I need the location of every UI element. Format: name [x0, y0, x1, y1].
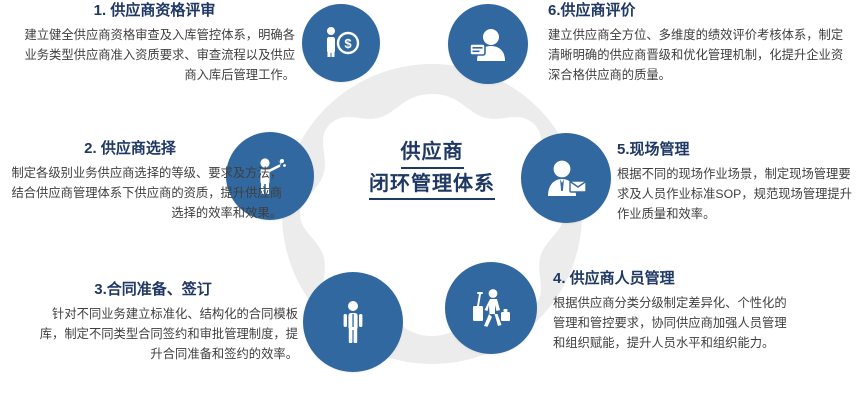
node-text-3: 3.合同准备、签订 针对不同业务建立标准化、结构化的合同模板库，制定不同类型合同… [28, 281, 298, 364]
node-circle-1[interactable]: $ [302, 4, 380, 82]
node-text-5: 5.现场管理 根据不同的现场作业场景，制定现场管理要求及人员作业标准SOP，规范… [617, 141, 857, 224]
node-circle-3[interactable] [303, 272, 403, 372]
node-heading-5: 5.现场管理 [617, 141, 857, 160]
node-circle-4[interactable] [445, 262, 537, 354]
person-with-luggage-icon [470, 288, 512, 328]
center-title: 供应商 闭环管理体系 [347, 140, 517, 200]
center-title-line1: 供应商 [401, 140, 464, 169]
node-heading-2: 2. 供应商选择 [0, 140, 282, 159]
diagram-canvas: 供应商 闭环管理体系 $ [0, 0, 864, 412]
node-body-4: 根据供应商分类分级制定差异化、个性化的管理和管控要求，协同供应商加强人员管理和组… [553, 294, 793, 354]
node-text-2: 2. 供应商选择 制定各级别业务供应商选择的等级、要求及方法，结合供应商管理体系… [0, 140, 282, 223]
node-text-1: 1. 供应商资格评审 建立健全供应商资格审查及入库管控体系，明确各业务类型供应商… [20, 2, 295, 85]
node-circle-6[interactable] [448, 4, 528, 84]
node-circle-5[interactable] [521, 133, 611, 223]
node-text-4: 4. 供应商人员管理 根据供应商分类分级制定差异化、个性化的管理和管控要求，协同… [553, 270, 793, 353]
node-heading-3: 3.合同准备、签订 [28, 281, 298, 300]
svg-text:$: $ [344, 36, 352, 51]
businessman-with-envelope-icon [545, 160, 587, 196]
node-heading-4: 4. 供应商人员管理 [553, 270, 793, 289]
node-body-1: 建立健全供应商资格审查及入库管控体系，明确各业务类型供应商准入资质要求、审查流程… [20, 26, 295, 86]
node-heading-1: 1. 供应商资格评审 [20, 2, 295, 21]
person-review-icon [468, 27, 508, 61]
node-body-5: 根据不同的现场作业场景，制定现场管理要求及人员作业标准SOP，规范现场管理提升作… [617, 165, 857, 225]
node-heading-6: 6.供应商评价 [548, 2, 854, 21]
person-standing-icon [340, 300, 366, 344]
node-body-6: 建立供应商全方位、多维度的绩效评价考核体系，制定清晰明确的供应商晋级和优化管理机… [548, 26, 854, 86]
center-title-line2: 闭环管理体系 [369, 172, 495, 201]
node-body-2: 制定各级别业务供应商选择的等级、要求及方法，结合供应商管理体系下供应商的资质，提… [0, 164, 282, 224]
node-body-3: 针对不同业务建立标准化、结构化的合同模板库，制定不同类型合同签约和审批管理制度，… [28, 305, 298, 365]
node-text-6: 6.供应商评价 建立供应商全方位、多维度的绩效评价考核体系，制定清晰明确的供应商… [548, 2, 854, 85]
person-with-coin-icon: $ [322, 26, 360, 60]
